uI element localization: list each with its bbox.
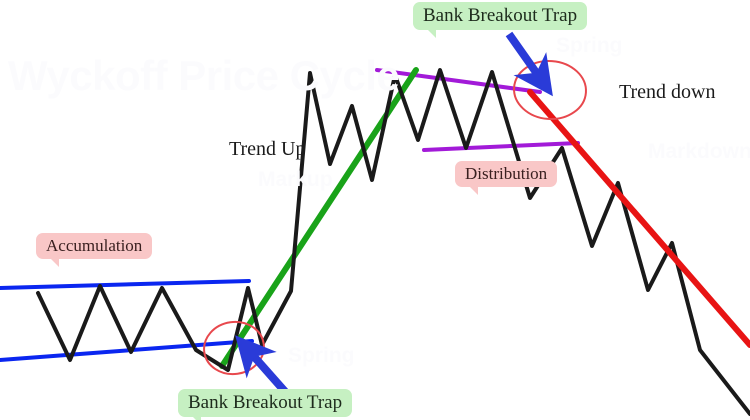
trend-up-label: Trend Up (229, 138, 306, 161)
wyckoff-price-cycle-diagram: Wyckoff Price Cycle Markup Spring Spring… (0, 0, 750, 420)
callout-accumulation: Accumulation (36, 233, 152, 259)
callout-bank-breakout-trap-bottom: Bank Breakout Trap (178, 389, 352, 417)
callout-bank-breakout-trap-top: Bank Breakout Trap (413, 2, 587, 30)
accumulation-channel-upper-line (0, 281, 249, 288)
callout-tail-icon (192, 416, 201, 420)
callout-tail-icon (427, 29, 436, 38)
callout-bank-breakout-trap-top-text: Bank Breakout Trap (423, 5, 577, 26)
downtrend-line (530, 92, 750, 345)
distribution-channel-lower-line (424, 143, 578, 150)
price-chart-canvas (0, 0, 750, 420)
callout-distribution: Distribution (455, 161, 557, 187)
upthrust-pointer-arrow (509, 34, 540, 78)
trend-down-label: Trend down (619, 81, 716, 104)
callout-tail-icon (469, 186, 478, 195)
callout-distribution-text: Distribution (465, 164, 547, 183)
callout-bank-breakout-trap-bottom-text: Bank Breakout Trap (188, 392, 342, 413)
callout-tail-icon (50, 258, 59, 267)
callout-accumulation-text: Accumulation (46, 236, 142, 255)
